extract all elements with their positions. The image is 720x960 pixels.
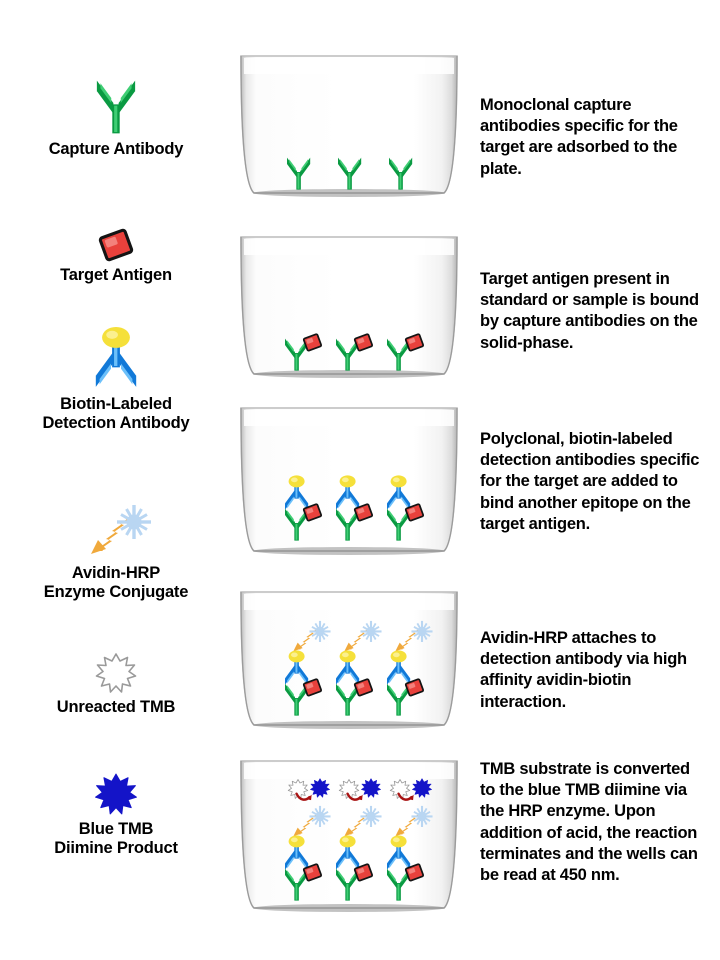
legend-column: Capture Antibody Target Antigen Biotin-L… <box>0 0 232 960</box>
legend-label-detection-antibody: Biotin-Labeled Detection Antibody <box>0 395 232 432</box>
well-step-3-detection <box>238 404 460 562</box>
legend-item-avidin-hrp: Avidin-HRP Enzyme Conjugate <box>0 502 232 601</box>
well-step-1-capture <box>238 52 460 204</box>
step-description-3: Polyclonal, biotin-labeled detection ant… <box>480 429 705 536</box>
description-column: Monoclonal capture antibodies specific f… <box>480 0 716 960</box>
red-square-antigen-icon <box>0 228 232 262</box>
legend-item-detection-antibody: Biotin-Labeled Detection Antibody <box>0 327 232 432</box>
wells-column <box>236 0 468 960</box>
legend-item-unreacted-tmb: Unreacted TMB <box>0 652 232 717</box>
orange-arrow-blue-starburst-icon <box>0 502 232 560</box>
step-description-4: Avidin-HRP attaches to detection antibod… <box>480 628 705 713</box>
step-description-1: Monoclonal capture antibodies specific f… <box>480 95 705 180</box>
legend-label-target-antigen: Target Antigen <box>0 266 232 285</box>
elisa-diagram: Capture Antibody Target Antigen Biotin-L… <box>0 0 720 960</box>
green-y-antibody-icon <box>0 78 232 136</box>
well-step-5-tmb <box>238 757 460 919</box>
well-step-4-avidin-hrp <box>238 588 460 736</box>
legend-item-blue-tmb-diimine: Blue TMB Diimine Product <box>0 772 232 857</box>
white-outline-starburst-icon <box>0 652 232 694</box>
legend-label-avidin-hrp: Avidin-HRP Enzyme Conjugate <box>0 564 232 601</box>
well-step-2-antigen <box>238 233 460 385</box>
legend-label-capture-antibody: Capture Antibody <box>0 140 232 159</box>
blue-inverted-y-antibody-with-biotin-icon <box>0 327 232 391</box>
step-description-2: Target antigen present in standard or sa… <box>480 269 705 354</box>
step-description-5: TMB substrate is converted to the blue T… <box>480 759 705 887</box>
legend-label-blue-tmb-diimine: Blue TMB Diimine Product <box>0 820 232 857</box>
legend-label-unreacted-tmb: Unreacted TMB <box>0 698 232 717</box>
legend-item-capture-antibody: Capture Antibody <box>0 78 232 159</box>
blue-starburst-icon <box>0 772 232 816</box>
legend-item-target-antigen: Target Antigen <box>0 228 232 285</box>
